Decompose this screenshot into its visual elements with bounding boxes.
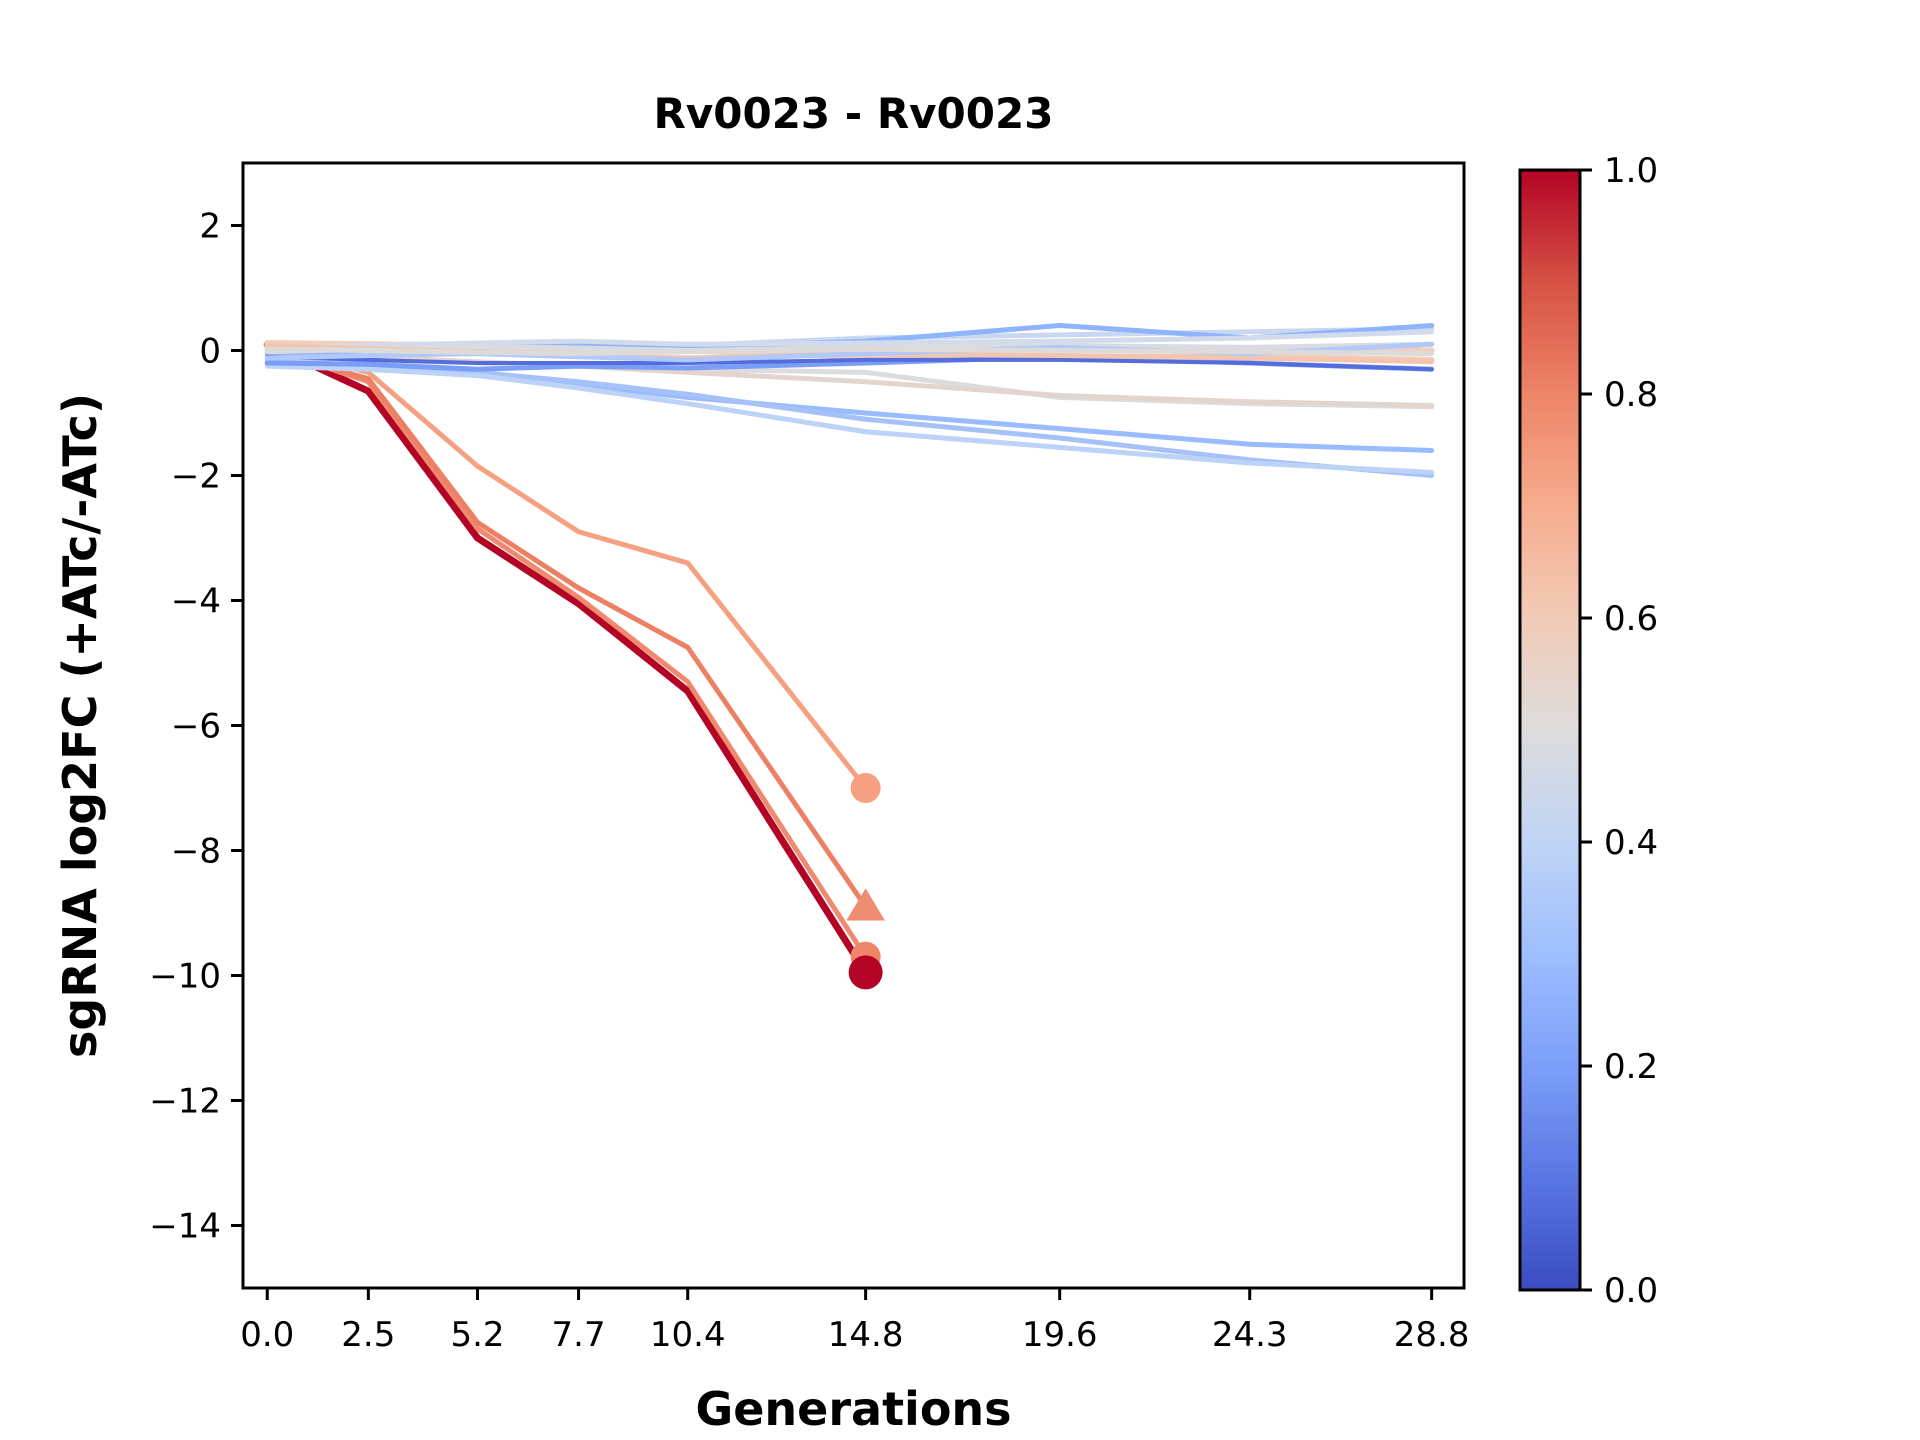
colorbar-tick-label: 0.2 bbox=[1604, 1047, 1658, 1087]
y-tick-label: −4 bbox=[171, 582, 221, 622]
colorbar: 0.00.20.40.60.81.0 bbox=[1520, 151, 1658, 1311]
figure-canvas: Rv0023 - Rv0023 0.02.55.27.710.414.819.6… bbox=[0, 0, 1920, 1440]
page-title: Rv0023 - Rv0023 bbox=[654, 89, 1054, 138]
x-axis-label: Generations bbox=[695, 1382, 1011, 1436]
x-tick-label: 24.3 bbox=[1212, 1315, 1288, 1355]
data-line bbox=[267, 347, 865, 788]
endpoint-marker-circle bbox=[851, 773, 881, 803]
endpoint-marker-circle bbox=[849, 955, 883, 989]
colorbar-tick-label: 0.6 bbox=[1604, 599, 1658, 639]
data-line bbox=[267, 344, 865, 972]
data-line bbox=[267, 347, 865, 956]
colorbar-tick-label: 0.0 bbox=[1604, 1271, 1658, 1311]
x-tick-label: 2.5 bbox=[341, 1315, 395, 1355]
x-tick-label: 28.8 bbox=[1394, 1315, 1470, 1355]
y-tick-label: −12 bbox=[149, 1082, 221, 1122]
y-tick-label: 0 bbox=[199, 332, 221, 372]
data-line bbox=[267, 351, 865, 907]
colorbar-tick-label: 0.4 bbox=[1604, 823, 1658, 863]
x-tick-label: 19.6 bbox=[1022, 1315, 1098, 1355]
x-tick-label: 14.8 bbox=[828, 1315, 904, 1355]
y-axis-label: sgRNA log2FC (+ATc/-ATc) bbox=[53, 393, 107, 1058]
x-tick-label: 5.2 bbox=[450, 1315, 504, 1355]
chart-svg: Rv0023 - Rv0023 0.02.55.27.710.414.819.6… bbox=[0, 0, 1920, 1440]
y-tick-label: −6 bbox=[171, 707, 221, 747]
colorbar-gradient bbox=[1520, 170, 1580, 1290]
data-series-layer bbox=[267, 326, 1431, 973]
colorbar-tick-label: 1.0 bbox=[1604, 151, 1658, 191]
endpoint-marker-triangle bbox=[846, 888, 885, 920]
x-tick-label: 10.4 bbox=[650, 1315, 726, 1355]
y-tick-label: −8 bbox=[171, 832, 221, 872]
y-tick-label: 2 bbox=[199, 207, 221, 247]
colorbar-tick-label: 0.8 bbox=[1604, 375, 1658, 415]
y-tick-label: −10 bbox=[149, 957, 221, 997]
y-tick-label: −2 bbox=[171, 457, 221, 497]
y-tick-label: −14 bbox=[149, 1207, 221, 1247]
endpoint-marker-layer bbox=[846, 773, 885, 989]
x-tick-label: 7.7 bbox=[552, 1315, 606, 1355]
data-line bbox=[267, 360, 1431, 476]
x-tick-label: 0.0 bbox=[240, 1315, 294, 1355]
